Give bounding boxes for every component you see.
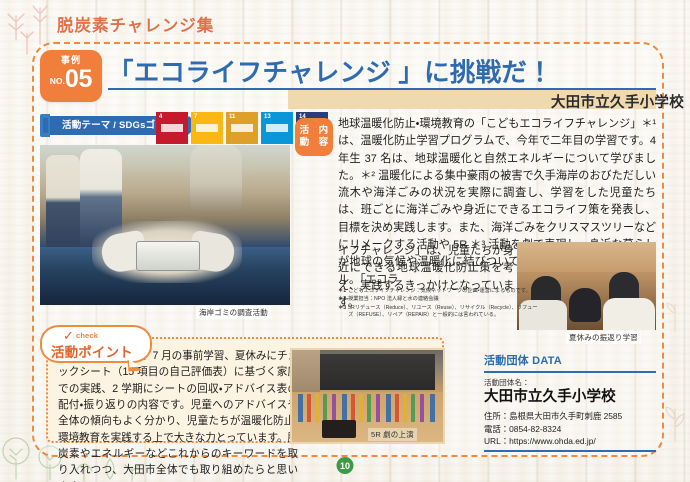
check-word-label: check bbox=[76, 331, 98, 340]
activity-badge-line: 活動 bbox=[295, 125, 314, 149]
sdg-badge-number: 7 bbox=[194, 114, 197, 120]
footnote-text: 授業担当：NPO 法人緑と水の連絡会議 bbox=[348, 296, 439, 304]
footnote-text: こどもエコライフチャレンジ：気候ネットワークの企画・運営によるものです。 bbox=[348, 288, 531, 296]
footnote-item: ＊1 こどもエコライフチャレンジ：気候ネットワークの企画・運営によるものです。 bbox=[338, 288, 538, 296]
sdg-badge-label-bar bbox=[231, 124, 253, 132]
photo-caption-group-work: 夏休みの振返り学習 bbox=[566, 331, 641, 344]
photo-figure bbox=[190, 145, 242, 211]
activity-badge-line: 内容 bbox=[314, 125, 333, 149]
school-name: 大田市立久手小学校 bbox=[551, 91, 684, 112]
sdg-badge-number: 4 bbox=[159, 114, 162, 120]
sdgs-pill-tab-icon bbox=[40, 114, 50, 137]
sdg-badge-label-bar bbox=[161, 124, 183, 132]
footnote-text: 5Rリデュース（Reduce）、リユース（Reuse）、リサイクル（Recycl… bbox=[348, 305, 538, 321]
photo-piano bbox=[322, 420, 356, 438]
footnote-marker: ＊2 bbox=[338, 296, 346, 304]
footnote-marker: ＊3 bbox=[338, 305, 346, 321]
data-url[interactable]: URL：https://www.ohda.ed.jp/ bbox=[484, 435, 656, 448]
page-title: 「エコライフチャレンジ 」に挑戦だ！ bbox=[108, 52, 656, 89]
photo-desk-region bbox=[517, 242, 656, 272]
data-phone: 電話：0854-82-8324 bbox=[484, 423, 656, 436]
photo-beach-litter-survey bbox=[40, 145, 290, 305]
sdg-goal-badge: 4 bbox=[156, 112, 188, 144]
photo-figure bbox=[46, 155, 80, 247]
photo-stage-region bbox=[318, 354, 435, 390]
sdg-goal-badge: 13 bbox=[261, 112, 293, 144]
data-org-label: 活動団体名： bbox=[484, 377, 656, 388]
photo-caption-gym: 5R 劇の上演 bbox=[368, 428, 417, 441]
activity-point-paragraph: このプログラムは、7 月の事前学習、夏休みにチェックシート（15 項目の自己評価… bbox=[58, 350, 298, 482]
photo-children-row bbox=[298, 394, 439, 422]
photo-student-head bbox=[569, 288, 601, 322]
case-badge-no-prefix: NO. bbox=[50, 76, 65, 86]
case-badge-kanji: 事例 bbox=[40, 50, 102, 65]
page-number-badge: 10 bbox=[337, 457, 354, 474]
footnotes-list: ＊1 こどもエコライフチャレンジ：気候ネットワークの企画・運営によるものです。 … bbox=[338, 288, 538, 321]
footnote-item: ＊2 授業担当：NPO 法人緑と水の連絡会議 bbox=[338, 296, 538, 304]
photo-measuring-device bbox=[136, 241, 200, 271]
case-number-badge: 事例 NO.05 bbox=[40, 50, 102, 102]
data-panel-rule-top bbox=[484, 371, 656, 373]
running-head-title: 脱炭素チャレンジ集 bbox=[57, 12, 214, 36]
sdg-badge-label-bar bbox=[266, 124, 288, 132]
footnote-item: ＊3 5Rリデュース（Reduce）、リユース（Reuse）、リサイクル（Rec… bbox=[338, 305, 538, 321]
organization-data-panel: 活動団体 DATA 活動団体名： 大田市立久手小学校 住所：島根県大田市久手町刺… bbox=[484, 352, 656, 456]
sdg-badge-number: 11 bbox=[229, 114, 235, 120]
activity-content-badge: 活動内容 bbox=[295, 118, 333, 156]
data-panel-heading: 活動団体 DATA bbox=[484, 352, 656, 368]
photo-caption-beach: 海岸ゴミの調査活動 bbox=[196, 306, 271, 319]
data-org-name: 大田市立久手小学校 bbox=[484, 389, 656, 407]
case-badge-number: 05 bbox=[65, 65, 92, 93]
activity-point-title: 活動ポイント bbox=[51, 341, 133, 361]
sdg-goal-badge: 7 bbox=[191, 112, 223, 144]
photo-student-body bbox=[603, 298, 655, 330]
data-panel-rule-bottom bbox=[484, 450, 656, 452]
sdg-badge-number: 13 bbox=[264, 114, 271, 120]
activity-point-bubble: ✓ check 活動ポイント bbox=[40, 325, 152, 363]
sdg-goal-badge: 11 bbox=[226, 112, 258, 144]
footnote-marker: ＊1 bbox=[338, 288, 346, 296]
activity-point-text: このプログラムは、7 月の事前学習、夏休みにチェックシート（15 項目の自己評価… bbox=[58, 348, 298, 482]
data-address: 住所：島根県大田市久手町刺鹿 2585 bbox=[484, 410, 656, 423]
sdg-badge-label-bar bbox=[196, 124, 218, 132]
